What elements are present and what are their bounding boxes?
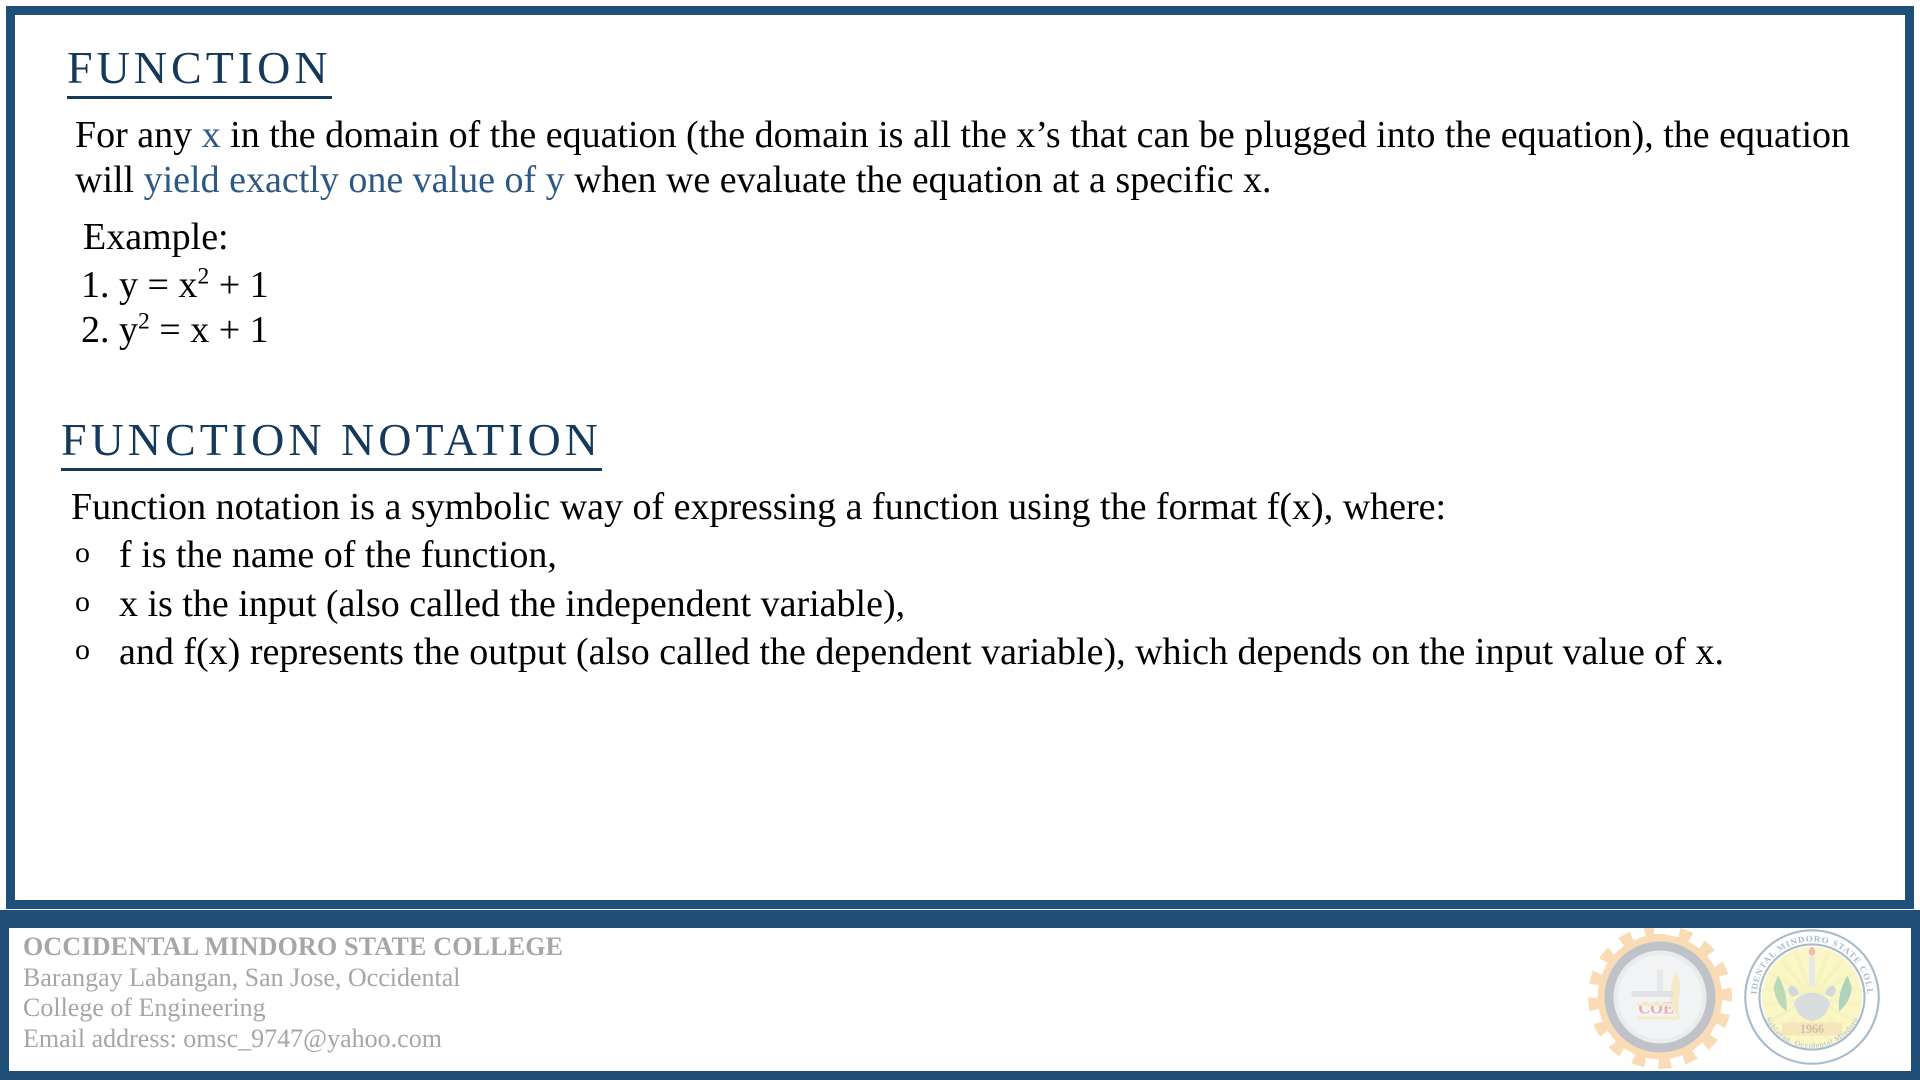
heading-function-notation-wrap: FUNCTION NOTATION xyxy=(53,417,1871,477)
paragraph1-emphasis-yield: yield exactly one value of y xyxy=(144,159,565,201)
page-title-function: FUNCTION xyxy=(67,45,332,99)
heading-function-wrap: FUNCTION xyxy=(53,45,1871,105)
list-item-bullet-3: oand f(x) represents the output (also ca… xyxy=(53,630,1871,675)
example-1-exponent: 2 xyxy=(197,263,209,289)
footer-organization: OCCIDENTAL MINDORO STATE COLLEGE xyxy=(23,932,563,963)
footer-logos: COE xyxy=(1585,928,1883,1072)
omsc-seal-year: 1966 xyxy=(1800,1022,1824,1036)
paragraph1-emphasis-x: x xyxy=(202,114,221,156)
example-label: Example: xyxy=(53,215,1871,260)
paragraph1-part1: For any xyxy=(75,114,202,156)
example-1-base: y = x xyxy=(119,264,197,306)
content-body: FUNCTION For any x in the domain of the … xyxy=(15,15,1905,900)
bullet-3-text: and f(x) represents the output (also cal… xyxy=(119,631,1724,673)
footer-divider-band xyxy=(0,910,1920,928)
list-item-bullet-2: ox is the input (also called the indepen… xyxy=(53,582,1871,627)
slide-footer: OCCIDENTAL MINDORO STATE COLLEGE Baranga… xyxy=(0,928,1920,1080)
example-1-tail: + 1 xyxy=(209,264,268,306)
bullet-circle-icon-2: o xyxy=(75,584,90,620)
paragraph-function-definition: For any x in the domain of the equation … xyxy=(53,113,1871,203)
list-marker-2: 2. xyxy=(81,308,110,353)
slide: FUNCTION For any x in the domain of the … xyxy=(0,0,1920,1080)
bullet-2-text: x is the input (also called the independ… xyxy=(119,583,905,625)
example-2-base: y xyxy=(119,309,138,351)
page-title-function-notation: FUNCTION NOTATION xyxy=(61,417,602,471)
list-marker-1: 1. xyxy=(81,263,110,308)
svg-text:COE: COE xyxy=(1638,999,1674,1018)
paragraph1-part3: when we evaluate the equation at a speci… xyxy=(565,159,1272,201)
content-panel: FUNCTION For any x in the domain of the … xyxy=(6,6,1914,909)
list-item-bullet-1: of is the name of the function, xyxy=(53,533,1871,578)
example-2-exponent: 2 xyxy=(138,308,150,334)
list-item-example-1: 1.y = x2 + 1 xyxy=(53,263,1871,308)
coe-gear-logo: COE xyxy=(1585,928,1735,1072)
bullet-circle-icon-1: o xyxy=(75,535,90,571)
footer-address: Barangay Labangan, San Jose, Occidental xyxy=(23,963,563,994)
bullet-circle-icon-3: o xyxy=(75,632,90,668)
notation-bullet-list: of is the name of the function, ox is th… xyxy=(53,533,1871,675)
omsc-seal-logo: 1966 OCCIDENTAL MINDORO STATE COLLEGE Sa… xyxy=(1741,928,1883,1068)
list-item-example-2: 2.y2 = x + 1 xyxy=(53,308,1871,353)
example-2-tail: = x + 1 xyxy=(150,309,269,351)
footer-email: Email address: omsc_9747@yahoo.com xyxy=(23,1024,563,1055)
footer-text-block: OCCIDENTAL MINDORO STATE COLLEGE Baranga… xyxy=(23,932,563,1055)
example-list: 1.y = x2 + 1 2.y2 = x + 1 xyxy=(53,263,1871,353)
footer-department: College of Engineering xyxy=(23,993,563,1024)
bullet-1-text: f is the name of the function, xyxy=(119,534,557,576)
paragraph-function-notation: Function notation is a symbolic way of e… xyxy=(53,485,1871,530)
